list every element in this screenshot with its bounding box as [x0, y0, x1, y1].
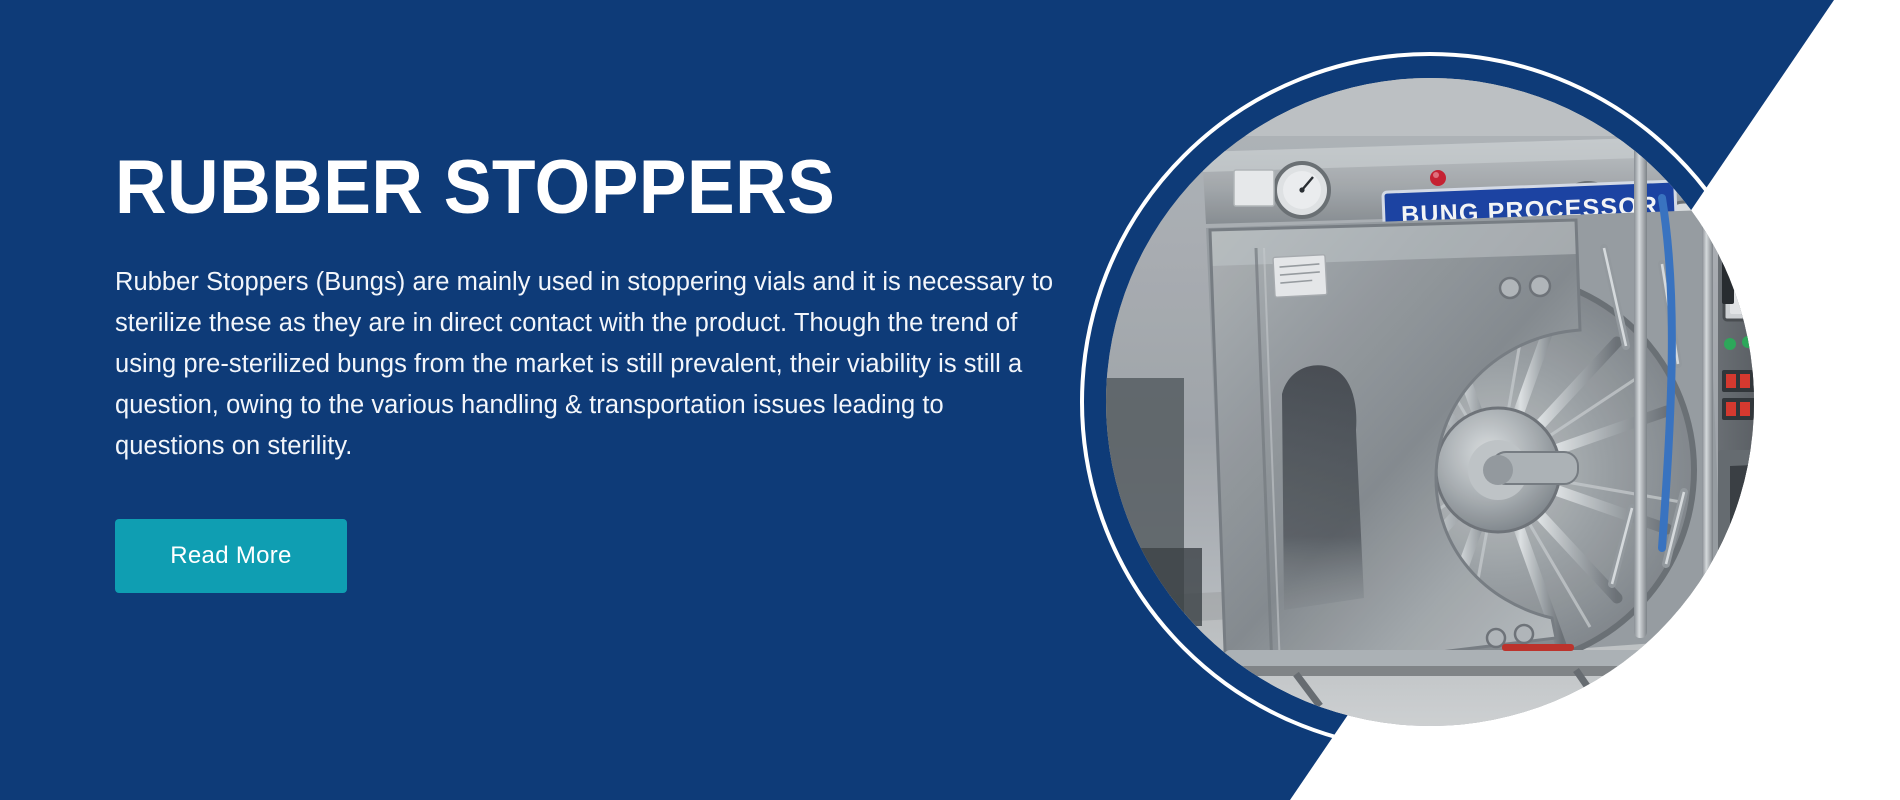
hero-photo: BUNG PROCESSOR BPS-1 — [1080, 52, 1780, 752]
hero-banner: BUNG PROCESSOR BPS-1 — [0, 0, 1900, 800]
page-title: RUBBER STOPPERS — [115, 150, 1008, 226]
hero-content: RUBBER STOPPERS Rubber Stoppers (Bungs) … — [115, 150, 1065, 593]
photo-circle-mask: BUNG PROCESSOR BPS-1 — [1106, 78, 1754, 726]
read-more-button[interactable]: Read More — [115, 519, 347, 593]
hero-description: Rubber Stoppers (Bungs) are mainly used … — [115, 262, 1055, 467]
bung-processor-photo: BUNG PROCESSOR BPS-1 — [1106, 78, 1754, 726]
